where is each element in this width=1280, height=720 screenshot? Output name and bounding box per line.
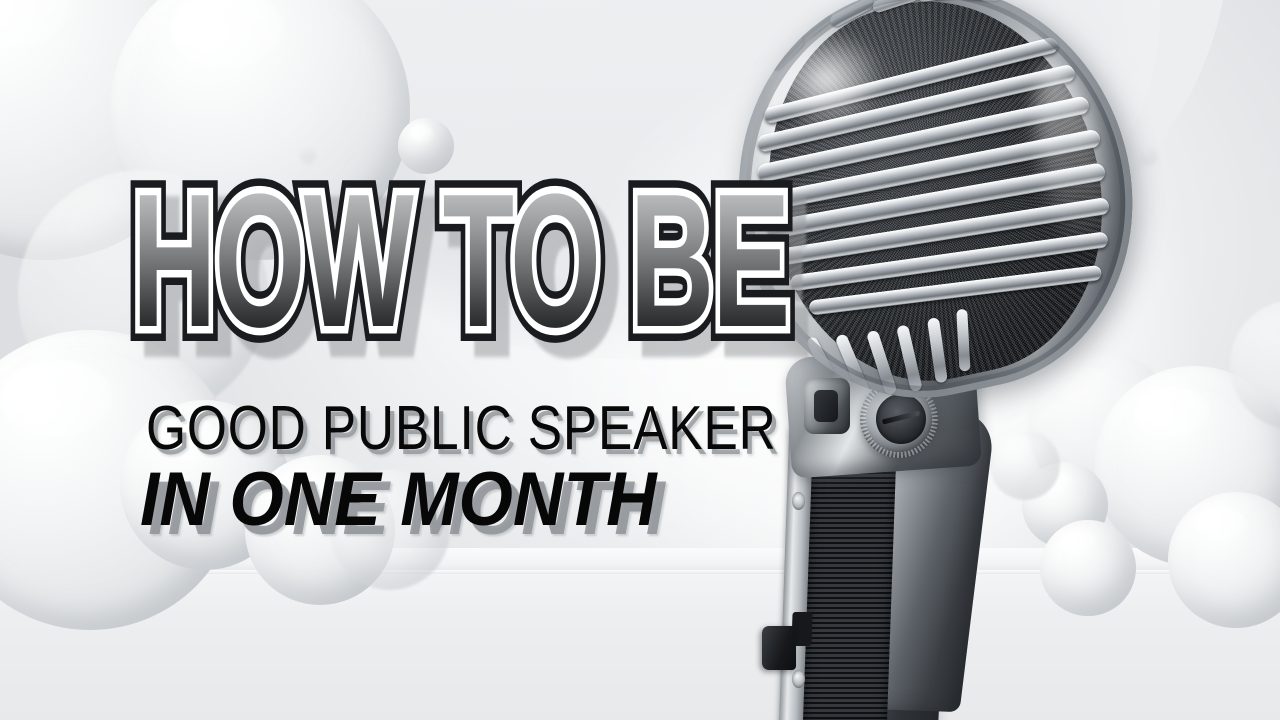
headline-block: HOW TO BE HOW TO BE HOW TO BE HOW TO BE	[0, 0, 760, 230]
subtitle-line-1: GOOD PUBLIC SPEAKER	[146, 398, 777, 460]
microphone-slider-knob	[762, 626, 796, 670]
subtitle-line-2: IN ONE MONTH	[140, 462, 657, 538]
youtube-thumbnail-canvas: HOW TO BE HOW TO BE HOW TO BE HOW TO BE …	[0, 0, 1280, 720]
microphone-rail-screw-bottom	[792, 670, 805, 688]
microphone-crown-slat	[960, 0, 1002, 1]
microphone-rail-screw-top	[792, 492, 805, 510]
headline-text: HOW TO BE	[132, 166, 788, 356]
